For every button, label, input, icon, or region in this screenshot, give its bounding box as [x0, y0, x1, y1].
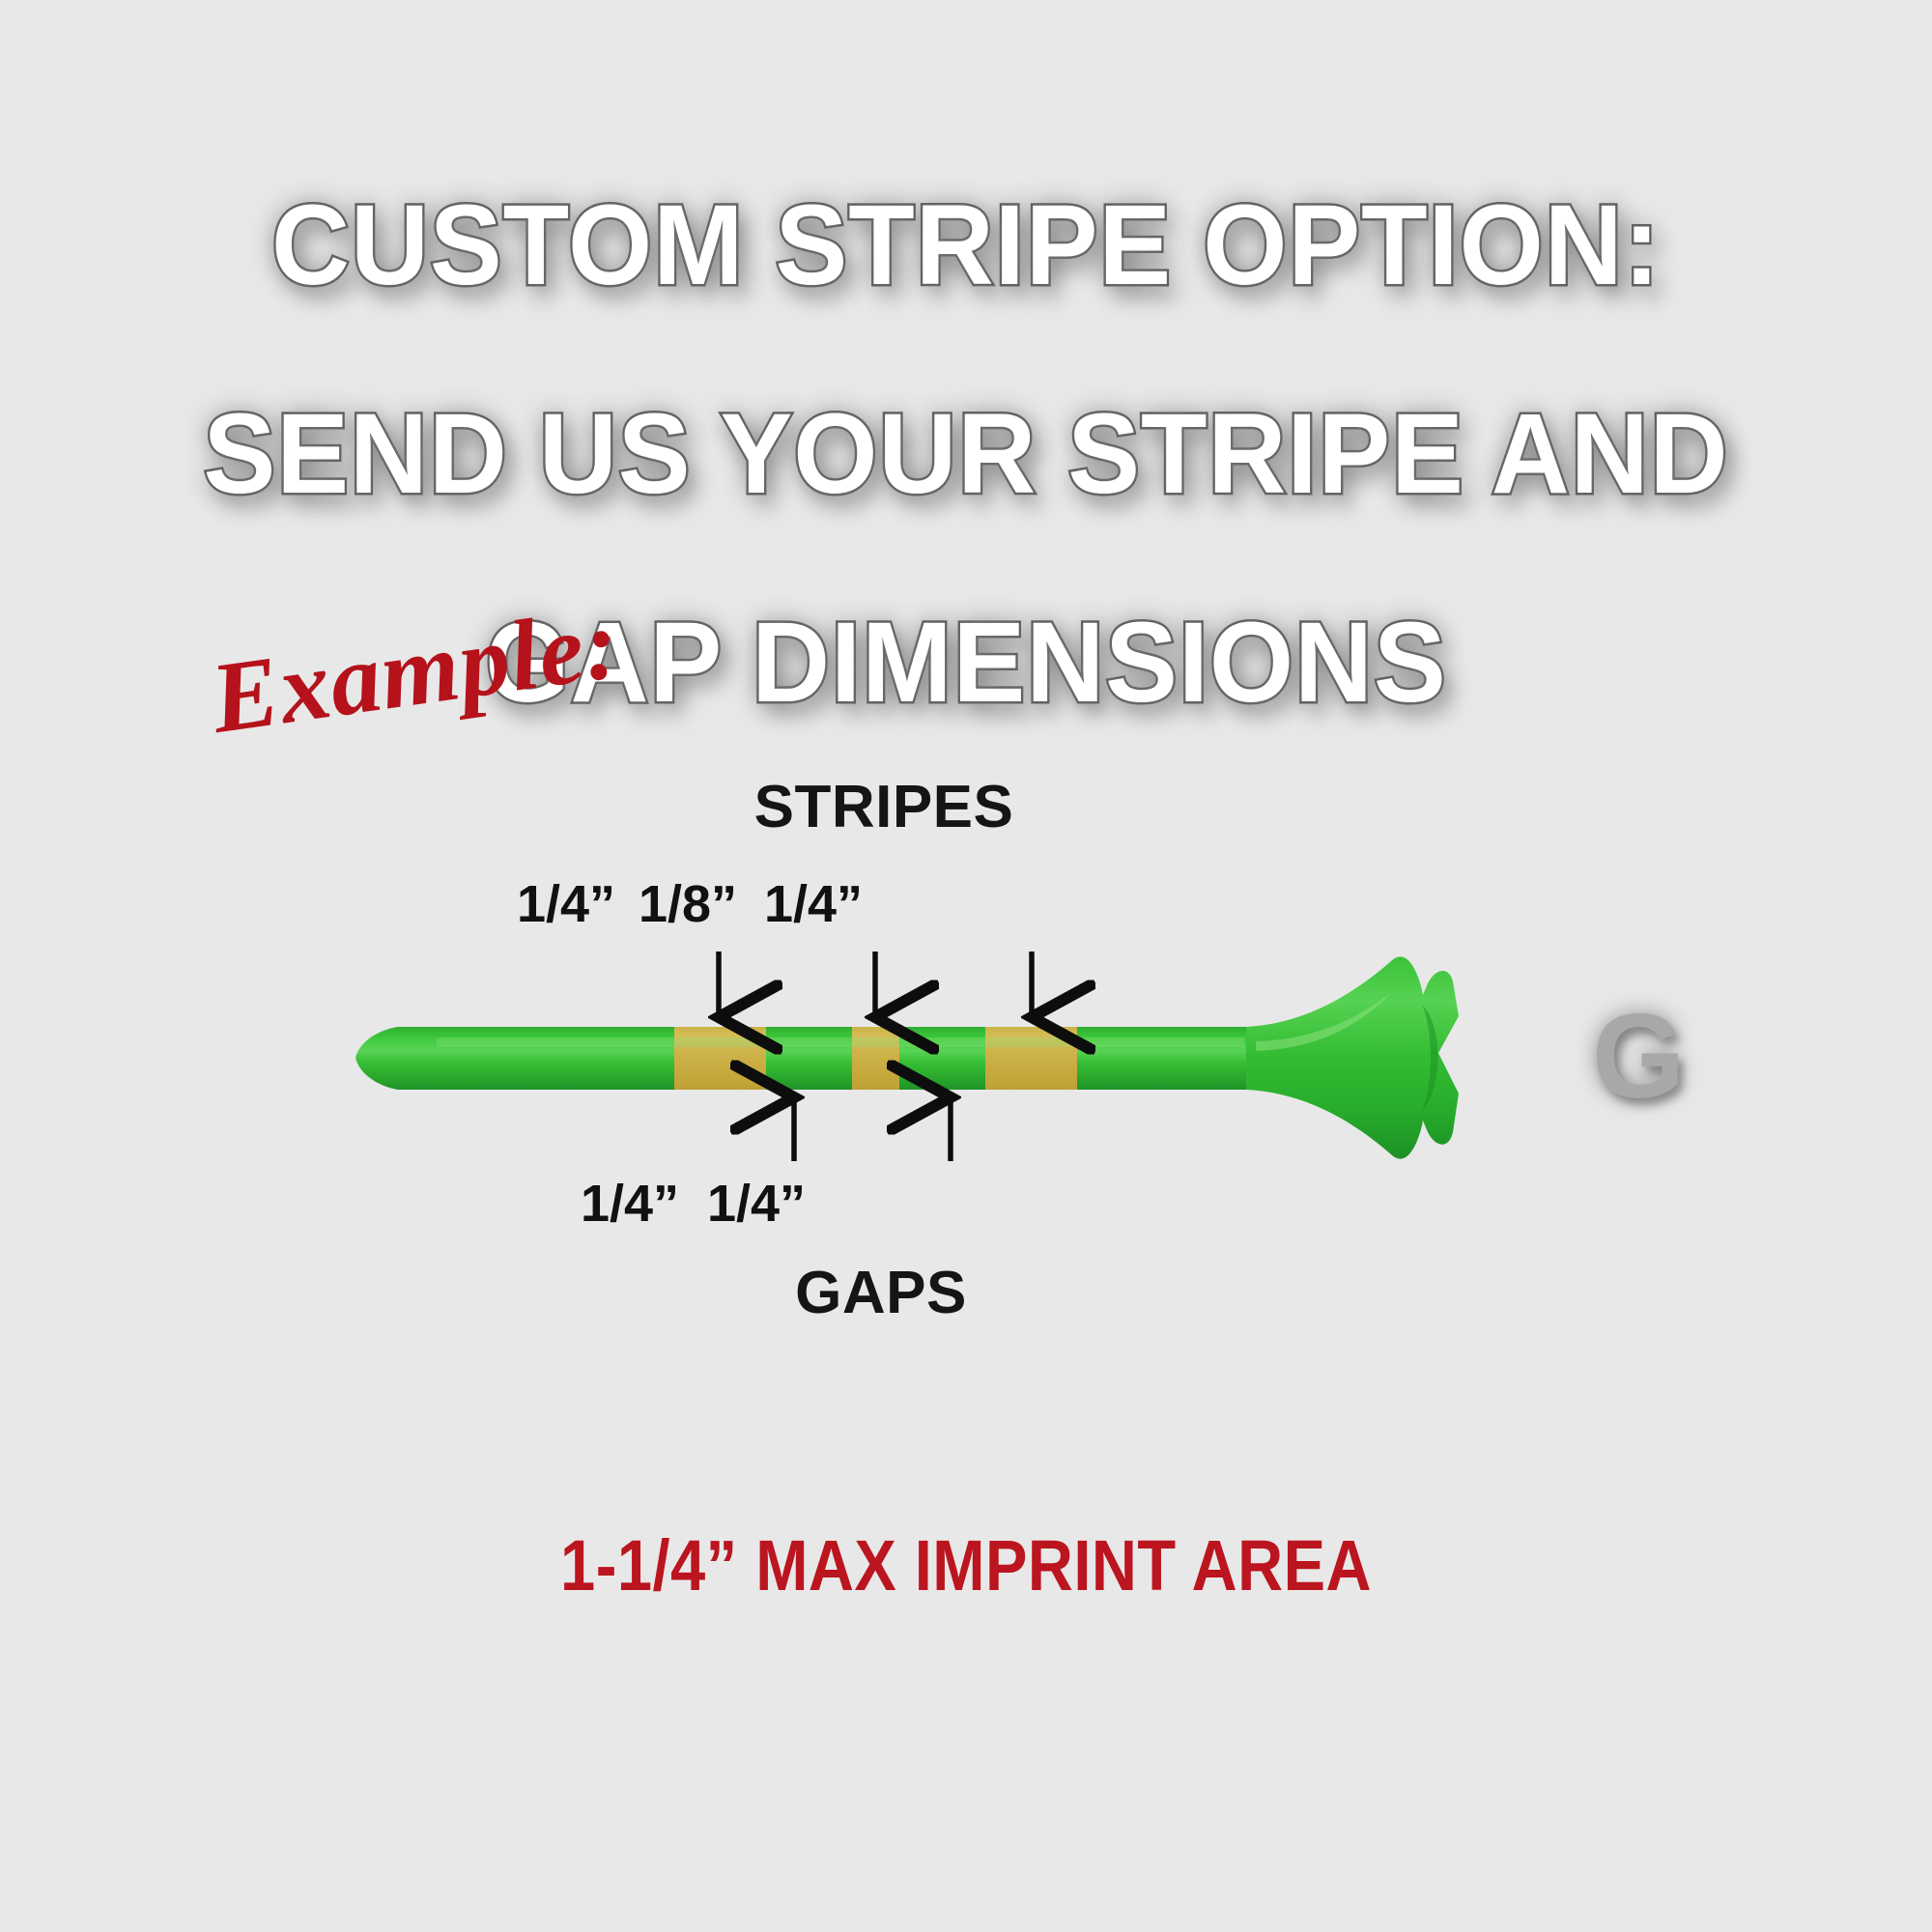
- poster-canvas: CUSTOM STRIPE OPTION: SEND US YOUR STRIP…: [0, 0, 1932, 1932]
- gap-dimension-1: 1/4”: [581, 1174, 679, 1234]
- gap-dimension-2: 1/4”: [707, 1174, 806, 1234]
- tee-shaft: [355, 1027, 1256, 1090]
- tee-head-notch: [1422, 1005, 1438, 1111]
- page-title-line-1: CUSTOM STRIPE OPTION:: [48, 193, 1884, 298]
- stripes-heading-text: STRIPES: [754, 774, 1014, 840]
- stripe-dimension-2: 1/8”: [639, 874, 737, 934]
- golf-tee-body: [355, 956, 1459, 1158]
- stripe-dimension-1: 1/4”: [517, 874, 615, 934]
- gaps-heading: GAPS: [0, 1259, 1932, 1327]
- tee-head: [1246, 956, 1459, 1158]
- stripes-heading: STRIPES: [0, 773, 1932, 841]
- tee-stripes: [674, 1019, 1077, 1101]
- stripe-dimension-3: 1/4”: [764, 874, 863, 934]
- tee-stripe-1: [674, 1019, 766, 1101]
- tee-stripe-3: [985, 1019, 1077, 1101]
- tee-head-highlight: [1256, 991, 1393, 1051]
- stripe-arrows: [719, 952, 1032, 1017]
- page-title-line-2: SEND US YOUR STRIPE AND: [48, 402, 1884, 506]
- tee-shaft-highlight: [437, 1037, 1244, 1047]
- gap-arrows: [794, 1097, 951, 1161]
- max-imprint-area-note: 1-1/4” MAX IMPRINT AREA: [116, 1524, 1816, 1606]
- watermark-logo: G: [1592, 997, 1685, 1117]
- tee-stripe-2: [852, 1019, 899, 1101]
- gaps-heading-text: GAPS: [795, 1260, 967, 1326]
